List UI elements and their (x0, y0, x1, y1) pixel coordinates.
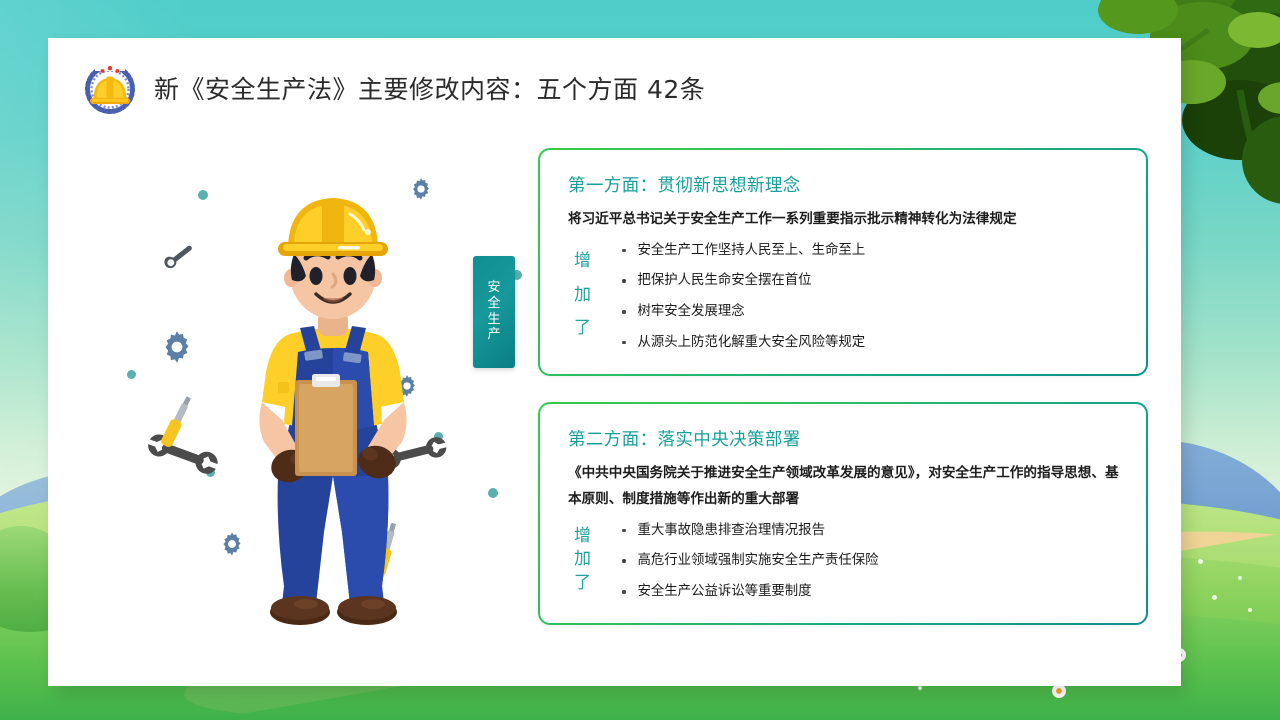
list-item-label: 从源头上防范化解重大安全风险等规定 (638, 333, 866, 354)
aspect-1-lead: 将习近平总书记关于安全生产工作一系列重要指示批示精神转化为法律规定 (568, 206, 1122, 233)
prefix-char: 加 (574, 551, 622, 568)
list-item-label: 安全生产工作坚持人民至上、生命至上 (638, 241, 866, 262)
prefix-char: 加 (574, 287, 622, 304)
list-item-label: 高危行业领域强制实施安全生产责任保险 (638, 551, 879, 572)
banner-char: 安 (487, 281, 500, 296)
bullet-dot-icon (622, 529, 626, 533)
prefix-char: 增 (574, 528, 622, 545)
list-item-label: 把保护人民生命安全摆在首位 (638, 271, 812, 292)
page-title: 新《安全生产法》主要修改内容：五个方面 42条 (154, 70, 705, 106)
dot-icon (488, 488, 498, 498)
aspect-box-2[interactable]: 第二方面：落实中央决策部署 《中共中央国务院关于推进安全生产领域改革发展的意见》… (538, 402, 1148, 625)
list-item: 安全生产工作坚持人民至上、生命至上 (622, 241, 1122, 262)
dot-icon (198, 190, 208, 200)
aspect-1-prefix: 增 加 了 (568, 239, 622, 354)
wrench-icon (141, 428, 224, 485)
slide-header: 新《安全生产法》主要修改内容：五个方面 42条 (82, 60, 705, 116)
bullet-dot-icon (622, 341, 626, 345)
prefix-char: 了 (574, 320, 622, 337)
bullet-dot-icon (622, 249, 626, 253)
aspect-1-bullets: 安全生产工作坚持人民至上、生命至上 把保护人民生命安全摆在首位 树牢安全发展理念 (622, 239, 1122, 354)
list-item-label: 安全生产公益诉讼等重要制度 (638, 582, 812, 603)
aspect-1-title: 第一方面：贯彻新思想新理念 (568, 172, 1122, 197)
bullet-dot-icon (622, 310, 626, 314)
prefix-char: 增 (574, 253, 622, 270)
banner-char: 产 (487, 328, 500, 343)
gear-icon (158, 328, 196, 371)
bullet-dot-icon (622, 590, 626, 594)
list-item: 从源头上防范化解重大安全风险等规定 (622, 333, 1122, 354)
aspect-2-title: 第二方面：落实中央决策部署 (568, 426, 1122, 451)
prefix-char: 了 (574, 575, 622, 592)
list-item-label: 重大事故隐患排查治理情况报告 (638, 521, 825, 542)
construction-worker-illustration (238, 176, 428, 646)
list-item: 安全生产公益诉讼等重要制度 (622, 582, 1122, 603)
slide-card: 新《安全生产法》主要修改内容：五个方面 42条 (48, 38, 1181, 686)
banner-char: 全 (487, 297, 500, 312)
safety-helmet-emblem-icon (82, 60, 138, 116)
content-boxes: 第一方面：贯彻新思想新理念 将习近平总书记关于安全生产工作一系列重要指示批示精神… (538, 148, 1148, 651)
bullet-dot-icon (622, 559, 626, 563)
aspect-2-bullets: 重大事故隐患排查治理情况报告 高危行业领域强制实施安全生产责任保险 安全生产公益… (622, 519, 1122, 603)
safety-production-banner: 安 全 生 产 (473, 256, 515, 368)
list-item: 高危行业领域强制实施安全生产责任保险 (622, 551, 1122, 572)
dot-icon (127, 370, 136, 379)
aspect-box-1[interactable]: 第一方面：贯彻新思想新理念 将习近平总书记关于安全生产工作一系列重要指示批示精神… (538, 148, 1148, 376)
list-item: 重大事故隐患排查治理情况报告 (622, 521, 1122, 542)
aspect-2-lead: 《中共中央国务院关于推进安全生产领域改革发展的意见》，对安全生产工作的指导思想、… (568, 460, 1122, 513)
aspect-2-prefix: 增 加 了 (568, 519, 622, 603)
list-item-label: 树牢安全发展理念 (638, 302, 745, 323)
banner-char: 生 (487, 313, 500, 328)
bullet-dot-icon (622, 279, 626, 283)
list-item: 把保护人民生命安全摆在首位 (622, 271, 1122, 292)
daisy-icon (1052, 684, 1066, 698)
wrench-icon (158, 235, 206, 281)
list-item: 树牢安全发展理念 (622, 302, 1122, 323)
illustration-area: 安 全 生 产 (118, 148, 568, 658)
